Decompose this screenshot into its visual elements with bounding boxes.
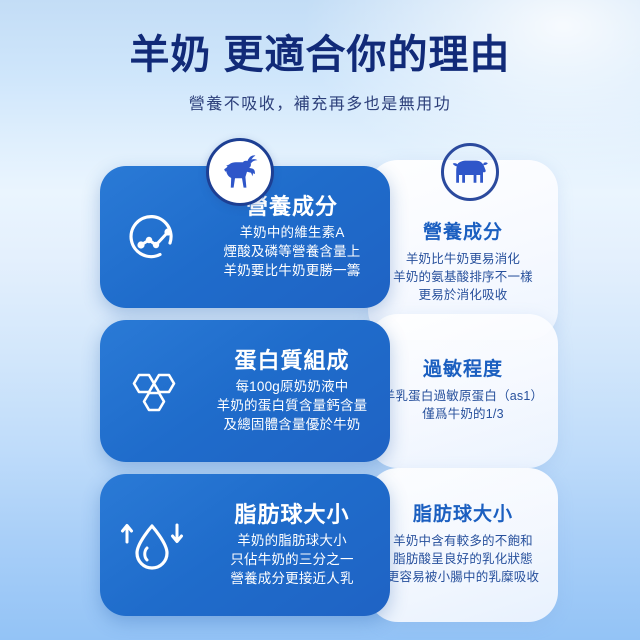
panel-body: 羊奶比牛奶更易消化 羊奶的氨基酸排序不一樣 更易於消化吸收: [393, 250, 533, 304]
cow-panel-allergy: 過敏程度 羊乳蛋白過敏原蛋白（as1） 僅爲牛奶的1/3: [368, 314, 558, 468]
infographic-poster: 羊奶 更適合你的理由 營養不吸收，補充再多也是無用功 營養成分: [0, 0, 640, 640]
honeycomb-icon: [100, 362, 198, 420]
line-chart-circle-icon: [100, 209, 198, 265]
panel-heading: 過敏程度: [423, 359, 503, 382]
card-body: 每100g原奶奶液中 羊奶的蛋白質含量鈣含量 及總固體含量優於牛奶: [198, 377, 386, 434]
panel-body: 羊乳蛋白過敏原蛋白（as1） 僅爲牛奶的1/3: [383, 387, 543, 423]
card-heading: 脂肪球大小: [198, 502, 386, 527]
panel-heading: 營養成分: [423, 222, 503, 245]
comparison-row: 蛋白質組成 每100g原奶奶液中 羊奶的蛋白質含量鈣含量 及總固體含量優於牛奶 …: [0, 320, 640, 470]
card-body: 羊奶的脂肪球大小 只佔牛奶的三分之一 營養成分更接近人乳: [198, 531, 386, 588]
panel-body: 羊奶中含有較多的不飽和 脂肪酸呈良好的乳化狀態 更容易被小腸中的乳糜吸收: [387, 532, 539, 586]
cow-panel-fat-globule: 脂肪球大小 羊奶中含有較多的不飽和 脂肪酸呈良好的乳化狀態 更容易被小腸中的乳糜…: [368, 468, 558, 622]
goat-card-fat-globule: 脂肪球大小 羊奶的脂肪球大小 只佔牛奶的三分之一 營養成分更接近人乳: [100, 474, 390, 616]
goat-card-protein: 蛋白質組成 每100g原奶奶液中 羊奶的蛋白質含量鈣含量 及總固體含量優於牛奶: [100, 320, 390, 462]
card-body: 羊奶中的維生素A 煙酸及磷等營養含量上 羊奶要比牛奶更勝一籌: [198, 223, 386, 280]
cow-icon: [441, 143, 499, 201]
goat-icon: [206, 138, 274, 206]
page-title: 羊奶 更適合你的理由: [0, 34, 640, 76]
page-subtitle: 營養不吸收，補充再多也是無用功: [0, 90, 640, 114]
panel-heading: 脂肪球大小: [413, 504, 513, 527]
water-droplet-icon: [100, 516, 198, 574]
comparison-row: 脂肪球大小 羊奶的脂肪球大小 只佔牛奶的三分之一 營養成分更接近人乳 脂肪球大小…: [0, 474, 640, 624]
header: 羊奶 更適合你的理由 營養不吸收，補充再多也是無用功: [0, 0, 640, 114]
card-heading: 蛋白質組成: [198, 348, 386, 373]
comparison-row: 營養成分 羊奶中的維生素A 煙酸及磷等營養含量上 羊奶要比牛奶更勝一籌 營養成分…: [0, 166, 640, 316]
